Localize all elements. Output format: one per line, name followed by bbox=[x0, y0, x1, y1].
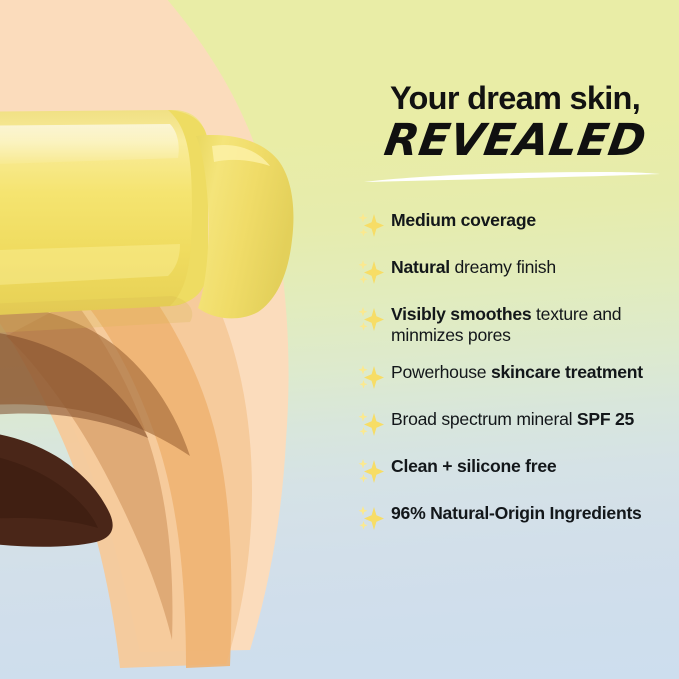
headline-line-2: REVEALED bbox=[381, 119, 649, 163]
list-item: Broad spectrum mineral SPF 25 bbox=[356, 408, 679, 440]
list-item-regular: Powerhouse bbox=[391, 362, 491, 382]
feature-list: Medium coverage Natural dreamy finish bbox=[356, 209, 679, 549]
list-item: Clean + silicone free bbox=[356, 455, 679, 487]
list-item-text: 96% Natural-Origin Ingredients bbox=[391, 502, 679, 524]
list-item-bold: Visibly smoothes bbox=[391, 304, 531, 324]
sparkle-icon bbox=[356, 504, 388, 534]
headline-line-1: Your dream skin, bbox=[354, 82, 676, 115]
sparkle-icon bbox=[356, 211, 388, 241]
list-item-text: Medium coverage bbox=[391, 209, 679, 231]
list-item-bold: Medium coverage bbox=[391, 210, 536, 230]
list-item: Medium coverage bbox=[356, 209, 679, 241]
list-item-text: Powerhouse skincare treatment bbox=[391, 361, 679, 383]
list-item-regular: Broad spectrum mineral bbox=[391, 409, 577, 429]
list-item: Natural dreamy finish bbox=[356, 256, 679, 288]
list-item-bold: SPF 25 bbox=[577, 409, 634, 429]
list-item-text: Visibly smoothes texture and minmizes po… bbox=[391, 303, 679, 346]
marketing-image: Your dream skin, REVEALED Medium coverag… bbox=[0, 0, 679, 679]
list-item-text: Broad spectrum mineral SPF 25 bbox=[391, 408, 679, 430]
sparkle-icon bbox=[356, 305, 388, 335]
headline-block: Your dream skin, REVEALED bbox=[354, 82, 676, 177]
sparkle-icon bbox=[356, 363, 388, 393]
foundation-swatch-group bbox=[0, 0, 289, 668]
list-item-bold: skincare treatment bbox=[491, 362, 643, 382]
list-item: Powerhouse skincare treatment bbox=[356, 361, 679, 393]
list-item-bold: 96% Natural-Origin Ingredients bbox=[391, 503, 642, 523]
list-item: 96% Natural-Origin Ingredients bbox=[356, 502, 679, 534]
headline-line-2-wrap: REVEALED bbox=[354, 119, 676, 177]
product-artwork bbox=[0, 0, 350, 679]
sparkle-icon bbox=[356, 457, 388, 487]
list-item-text: Clean + silicone free bbox=[391, 455, 679, 477]
list-item-bold: Natural bbox=[391, 257, 450, 277]
list-item: Visibly smoothes texture and minmizes po… bbox=[356, 303, 679, 346]
list-item-text: Natural dreamy finish bbox=[391, 256, 679, 278]
product-tube bbox=[0, 110, 293, 336]
sparkle-icon bbox=[356, 410, 388, 440]
list-item-regular: dreamy finish bbox=[450, 257, 556, 277]
copy-panel: Your dream skin, REVEALED Medium coverag… bbox=[348, 0, 679, 679]
sparkle-icon bbox=[356, 258, 388, 288]
list-item-bold: Clean + silicone free bbox=[391, 456, 556, 476]
brush-underline-icon bbox=[362, 171, 662, 185]
